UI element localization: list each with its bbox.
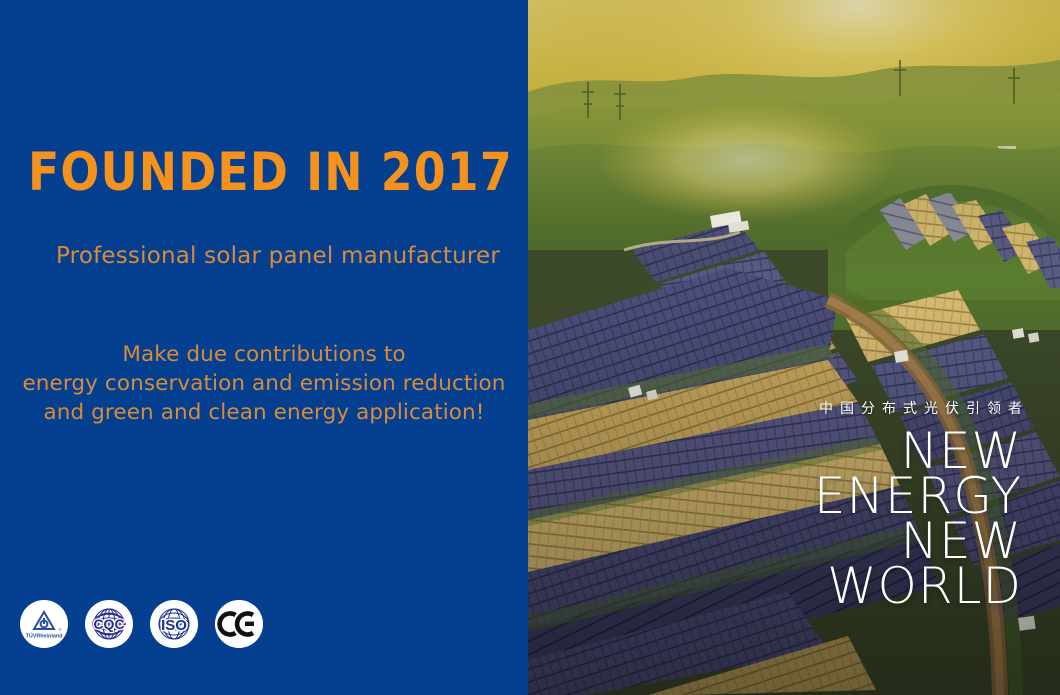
ce-mark-badge xyxy=(215,600,263,648)
subtitle: Professional solar panel manufacturer xyxy=(56,243,500,271)
page-title: FOUNDED IN 2017 xyxy=(28,146,513,199)
tuv-rheinland-icon: TÜVRheinland ® xyxy=(20,600,68,648)
body-copy: Make due contributions to energy conserv… xyxy=(0,340,528,427)
body-line-3: and green and clean energy application! xyxy=(0,398,528,427)
info-panel: FOUNDED IN 2017 Professional solar panel… xyxy=(0,0,528,695)
promotional-banner: 中国分布式光伏引领者 NEW ENERGY NEW WORLD FOUNDED … xyxy=(0,0,1060,695)
certification-badges: TÜVRheinland ® xyxy=(20,600,263,648)
cqc-badge: CQC xyxy=(85,600,133,648)
iso-icon: ISO xyxy=(150,600,198,648)
svg-text:CQC: CQC xyxy=(93,616,124,632)
body-line-1: Make due contributions to xyxy=(0,340,528,369)
svg-text:®: ® xyxy=(59,628,62,632)
iso-badge: ISO xyxy=(150,600,198,648)
svg-text:ISO: ISO xyxy=(161,617,187,634)
ce-mark-icon xyxy=(215,600,263,648)
solar-farm-photo: 中国分布式光伏引领者 NEW ENERGY NEW WORLD xyxy=(528,0,1060,695)
cqc-icon: CQC xyxy=(85,600,133,648)
body-line-2: energy conservation and emission reducti… xyxy=(0,369,528,398)
svg-text:TÜVRheinland: TÜVRheinland xyxy=(26,633,63,640)
tuv-rheinland-badge: TÜVRheinland ® xyxy=(20,600,68,648)
